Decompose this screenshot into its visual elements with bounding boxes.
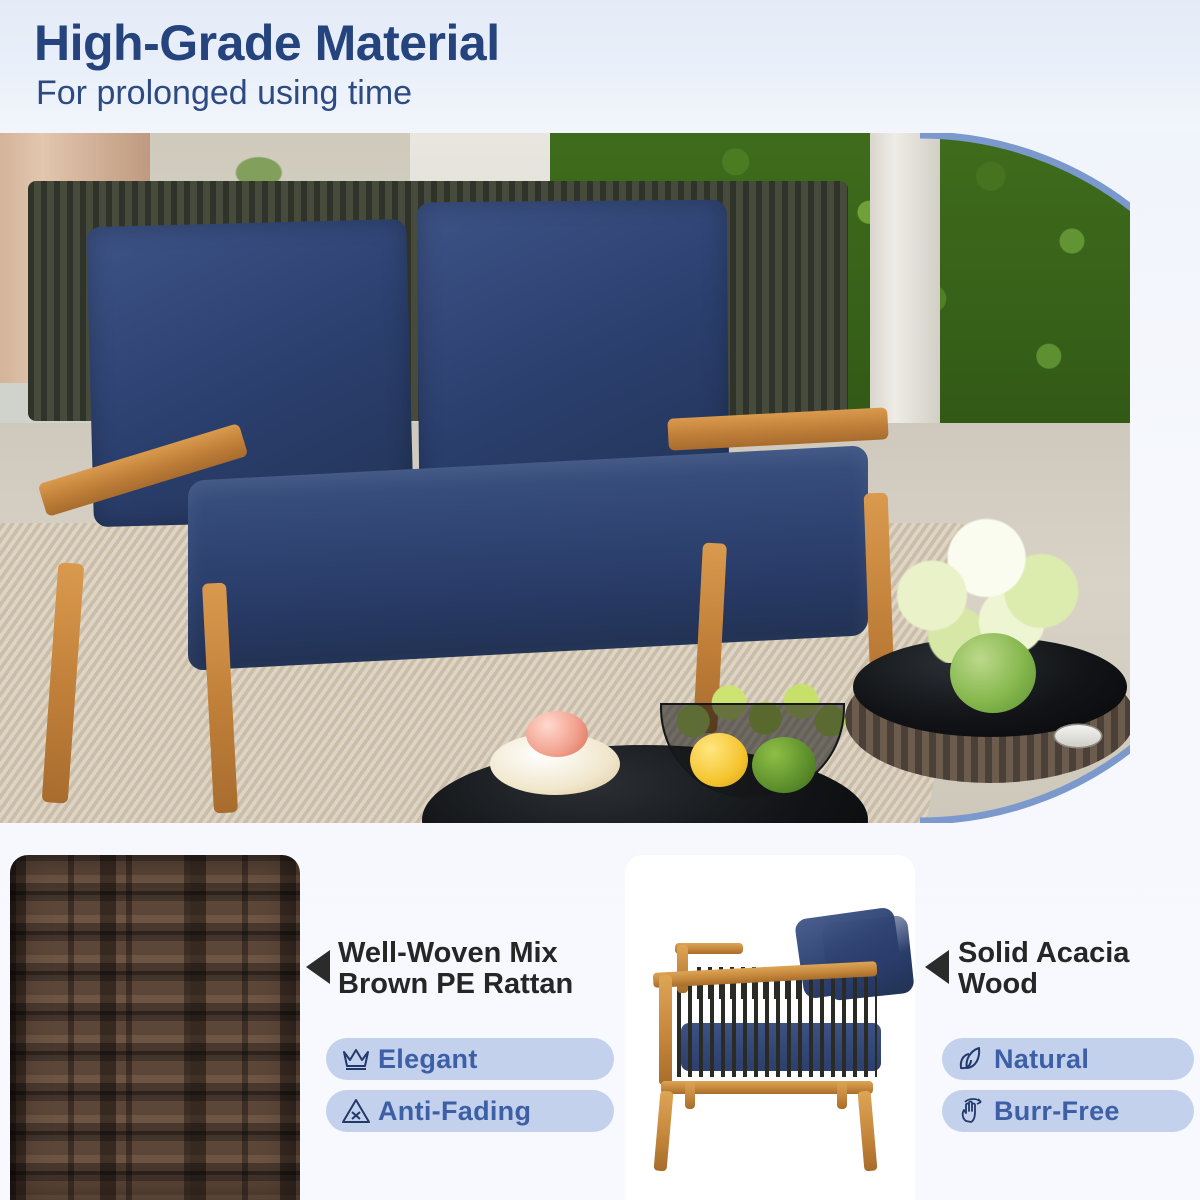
chair-side-weave bbox=[677, 977, 877, 1077]
side-table-brand-plaque bbox=[1055, 725, 1101, 747]
anti-fade-icon bbox=[334, 1097, 378, 1125]
peach-fruit bbox=[526, 711, 588, 757]
left-arrow-icon bbox=[306, 950, 330, 984]
armchair-illustration bbox=[639, 905, 905, 1170]
badge-natural-label: Natural bbox=[994, 1044, 1089, 1075]
hand-touch-icon bbox=[950, 1097, 994, 1125]
feature-acacia-label-line2: Wood bbox=[958, 969, 1129, 1000]
hero-photo bbox=[0, 133, 1130, 823]
green-glass-vase bbox=[950, 633, 1036, 713]
page-subtitle: For prolonged using time bbox=[36, 76, 412, 110]
feature-acacia-label: Solid Acacia Wood bbox=[958, 938, 1129, 1001]
feature-rattan-label: Well-Woven Mix Brown PE Rattan bbox=[338, 938, 573, 1001]
header-banner: High-Grade Material For prolonged using … bbox=[0, 0, 1200, 133]
badge-burr-free[interactable]: Burr-Free bbox=[942, 1090, 1194, 1132]
crown-icon bbox=[334, 1046, 378, 1072]
page-title: High-Grade Material bbox=[34, 18, 500, 68]
badge-anti-fading[interactable]: Anti-Fading bbox=[326, 1090, 614, 1132]
feature-rattan-label-line1: Well-Woven Mix bbox=[338, 938, 573, 969]
chair-foot-front bbox=[685, 1081, 695, 1109]
chair-foot-rear bbox=[837, 1081, 847, 1109]
badge-anti-fading-label: Anti-Fading bbox=[378, 1096, 531, 1127]
lemon-fruit bbox=[690, 733, 748, 787]
acacia-chair-photo bbox=[625, 855, 915, 1200]
feature-rattan-label-line2: Brown PE Rattan bbox=[338, 969, 573, 1000]
leaf-icon bbox=[950, 1045, 994, 1073]
feature-acacia-label-line1: Solid Acacia bbox=[958, 938, 1129, 969]
badge-elegant-label: Elegant bbox=[378, 1044, 478, 1075]
infographic-page: High-Grade Material For prolonged using … bbox=[0, 0, 1200, 1200]
rattan-texture-swatch bbox=[10, 855, 300, 1200]
lime-fruit bbox=[752, 737, 816, 793]
chair-arm-post bbox=[659, 975, 672, 1085]
badge-burr-free-label: Burr-Free bbox=[994, 1096, 1120, 1127]
wicker-loveseat bbox=[8, 163, 868, 743]
rattan-weave-knots bbox=[10, 855, 300, 1200]
seat-cushion bbox=[188, 445, 868, 671]
badge-elegant[interactable]: Elegant bbox=[326, 1038, 614, 1080]
hero-image-region bbox=[0, 133, 1200, 823]
chair-leg-left bbox=[654, 1091, 674, 1172]
badge-natural[interactable]: Natural bbox=[942, 1038, 1194, 1080]
chair-leg-right bbox=[858, 1091, 878, 1172]
left-arrow-icon-acacia bbox=[925, 950, 949, 984]
